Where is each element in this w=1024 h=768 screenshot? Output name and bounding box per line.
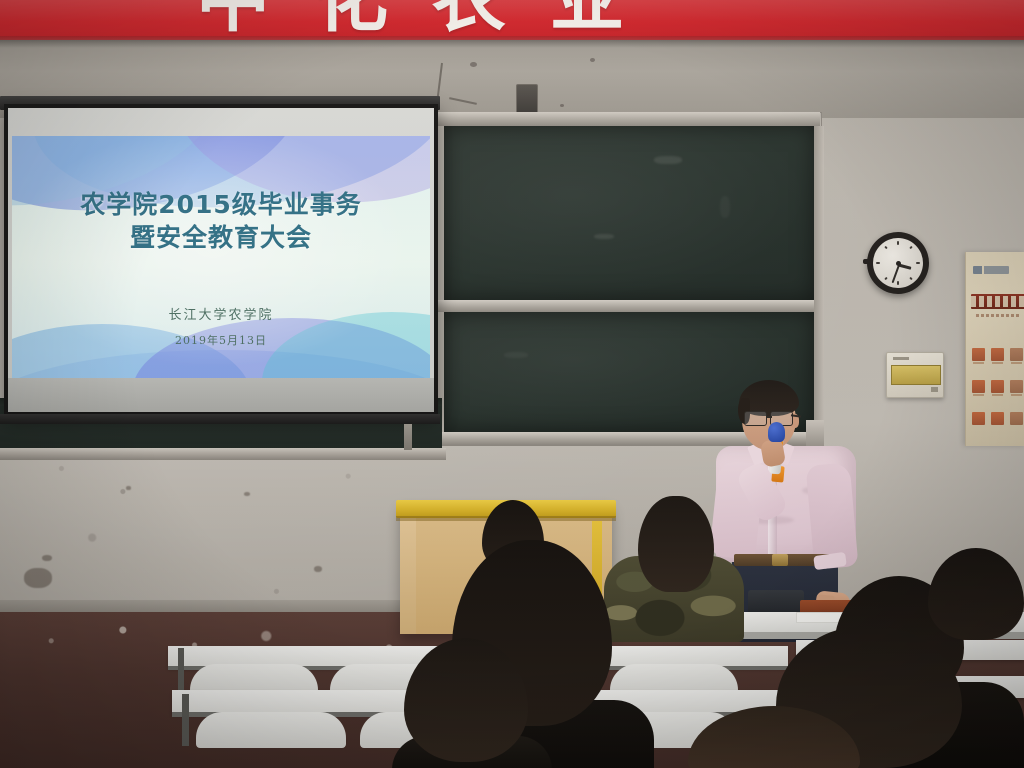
lecture-hall-photo: 中化农业 农学院2015级毕业事务 — [0, 0, 1024, 768]
eyeglasses-icon — [742, 411, 796, 424]
bench-leg — [182, 694, 189, 746]
wall-clock — [867, 232, 929, 294]
clock-tick — [916, 262, 920, 264]
wall-scuff — [126, 486, 131, 490]
poster-character — [972, 412, 985, 425]
clock-tick — [884, 246, 888, 250]
poster-row — [972, 412, 1024, 425]
blackboard-middle-rail — [436, 300, 820, 312]
chalk-smudge — [594, 234, 614, 239]
poster-character — [991, 348, 1004, 361]
glasses-left-lens — [744, 411, 767, 426]
beam-mark — [590, 58, 595, 62]
slide-title: 农学院2015级毕业事务 暨安全教育大会 — [12, 188, 430, 254]
poster-pinyin — [1011, 362, 1022, 364]
clock-knob — [863, 259, 870, 264]
chalk-smudge — [720, 196, 730, 218]
glasses-bridge — [766, 416, 772, 418]
poster-character — [972, 380, 985, 393]
poster-character — [991, 412, 1004, 425]
screen-blank-area — [8, 378, 434, 412]
poster-heading-text — [971, 296, 1024, 307]
poster-logo-icon — [973, 266, 1009, 274]
left-blackboard-chalk-tray — [0, 448, 446, 460]
poster-character — [1010, 380, 1023, 393]
poster-character — [991, 380, 1004, 393]
slide-subtitle: 长江大学农学院 — [12, 304, 430, 323]
poster-pinyin — [992, 394, 1003, 396]
blackboard-upper-panel — [444, 126, 814, 300]
red-banner: 中化农业 — [0, 0, 1024, 40]
clock-tick — [909, 277, 913, 281]
shirt-cuff — [813, 552, 847, 570]
beam-mark — [560, 104, 564, 107]
clock-tick — [897, 241, 899, 245]
student-head-long-hair — [638, 496, 714, 592]
poster-pinyin — [973, 394, 984, 396]
panel-label — [891, 365, 941, 385]
clock-tick — [876, 262, 880, 264]
clock-face — [873, 238, 923, 288]
beam-mark — [470, 62, 477, 67]
wall-scuff — [42, 555, 52, 561]
poster-subheading — [976, 314, 1020, 317]
presentation-slide: 农学院2015级毕业事务 暨安全教育大会 长江大学农学院 2019年5月13日 — [12, 136, 430, 378]
bench-leg — [178, 648, 184, 692]
wall-poster — [965, 252, 1024, 446]
wall-scuff — [244, 492, 250, 496]
panel-badge — [931, 387, 938, 392]
wall-mounted-control-box — [886, 352, 944, 398]
screen-tensioner — [404, 424, 412, 450]
belt-buckle — [772, 554, 788, 566]
screen-weight-bar — [0, 414, 440, 424]
poster-pinyin — [973, 362, 984, 364]
poster-character — [1010, 412, 1023, 425]
poster-row — [972, 380, 1024, 393]
poster-row — [972, 348, 1024, 361]
blackboard-top-rail — [436, 112, 820, 126]
clock-center-pin — [896, 261, 901, 266]
chalk-smudge — [504, 352, 528, 358]
wall-scuff — [314, 566, 322, 572]
poster-character — [972, 348, 985, 361]
panel-vent — [893, 357, 909, 360]
banner-text: 中化农业 — [196, 0, 1024, 38]
presenter-left-hand — [760, 438, 786, 467]
slide-title-line2: 暨安全教育大会 — [12, 221, 430, 254]
clock-tick — [909, 246, 913, 250]
lectern-left-post — [400, 504, 416, 634]
wall-speaker-icon — [516, 84, 538, 114]
beam-shadow — [0, 40, 1024, 48]
clock-tick — [884, 277, 888, 281]
clock-tick — [897, 281, 899, 285]
seat[interactable] — [196, 712, 346, 748]
poster-pinyin — [1011, 394, 1022, 396]
slide-title-line1: 农学院2015级毕业事务 — [12, 188, 430, 221]
wall-scuff — [24, 568, 52, 588]
poster-character — [1010, 348, 1023, 361]
microphone-icon — [768, 422, 785, 442]
slide-date: 2019年5月13日 — [12, 332, 430, 348]
chalk-smudge — [654, 156, 682, 164]
poster-pinyin — [992, 362, 1003, 364]
